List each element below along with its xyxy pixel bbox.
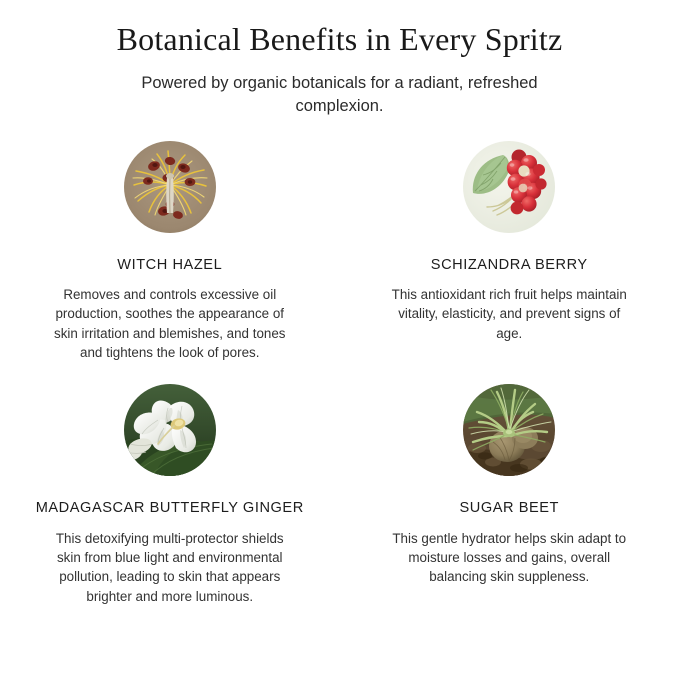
page-header: Botanical Benefits in Every Spritz Power… [0, 0, 679, 119]
ingredient-name: WITCH HAZEL [117, 257, 222, 275]
butterfly-ginger-image [124, 384, 216, 476]
ingredient-card-witch-hazel: WITCH HAZEL Removes and controls excessi… [0, 141, 340, 363]
ingredient-name: MADAGASCAR BUTTERFLY GINGER [36, 500, 304, 518]
ingredient-card-sugar-beet: SUGAR BEET This gentle hydrator helps sk… [340, 384, 679, 606]
witch-hazel-image [124, 141, 216, 233]
ingredient-description: This gentle hydrator helps skin adapt to… [384, 529, 634, 587]
ingredient-description: Removes and controls excessive oil produ… [45, 285, 295, 362]
sugar-beet-image [463, 384, 555, 476]
ingredients-grid: WITCH HAZEL Removes and controls excessi… [0, 141, 679, 606]
ingredient-card-schizandra-berry: SCHIZANDRA BERRY This antioxidant rich f… [340, 141, 679, 363]
page-title: Botanical Benefits in Every Spritz [0, 21, 679, 59]
page-subtitle: Powered by organic botanicals for a radi… [130, 72, 550, 119]
botanical-benefits-page: Botanical Benefits in Every Spritz Power… [0, 0, 679, 679]
ingredient-description: This antioxidant rich fruit helps mainta… [384, 285, 634, 343]
ingredient-name: SCHIZANDRA BERRY [431, 257, 588, 275]
schizandra-berry-image [463, 141, 555, 233]
ingredient-card-madagascar-butterfly-ginger: MADAGASCAR BUTTERFLY GINGER This detoxif… [0, 384, 340, 606]
ingredient-name: SUGAR BEET [459, 500, 559, 518]
ingredient-description: This detoxifying multi-protector shields… [44, 529, 296, 606]
